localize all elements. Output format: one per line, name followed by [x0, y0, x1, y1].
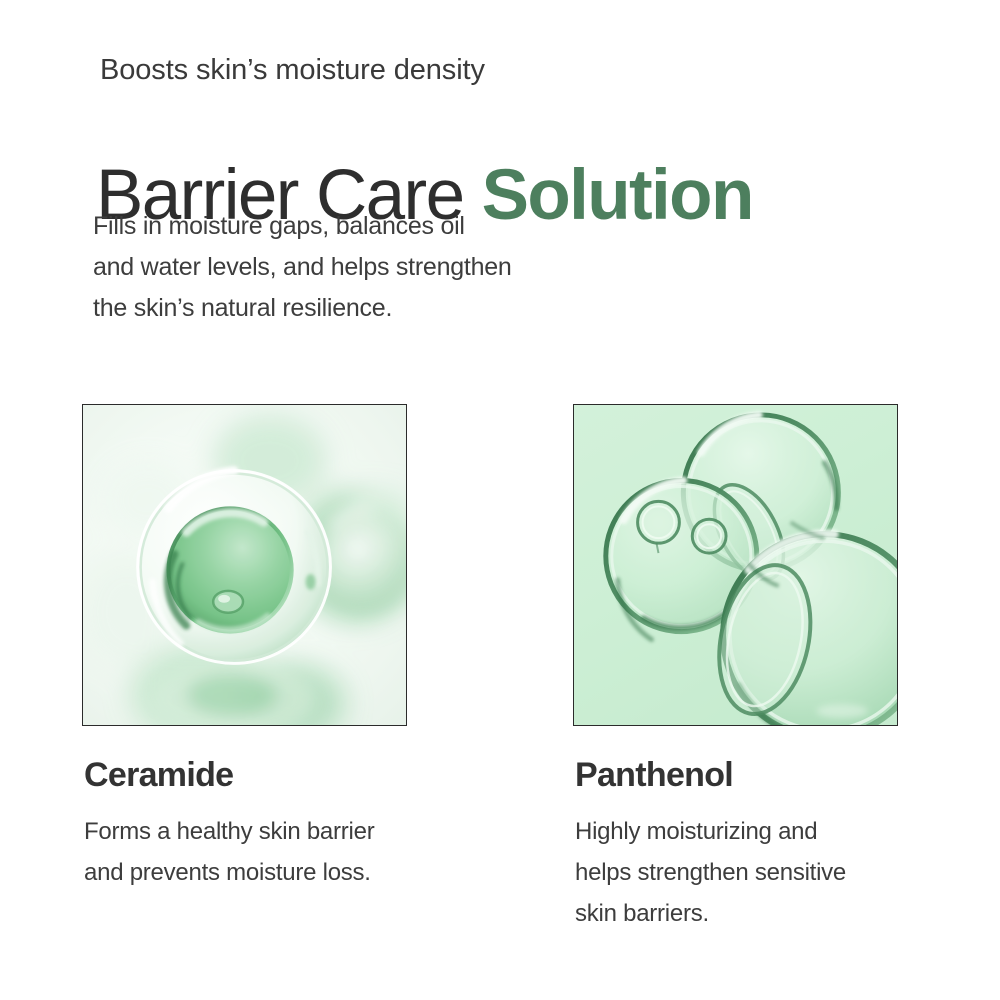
ingredient-description-line: Highly moisturizing and: [575, 811, 846, 852]
ingredient-description-line: and prevents moisture loss.: [84, 852, 374, 893]
ingredient-description-line: skin barriers.: [575, 893, 846, 934]
ingredient-description-line: helps strengthen sensitive: [575, 852, 846, 893]
ingredient-title: Panthenol: [575, 754, 733, 796]
intro-paragraph: Fills in moisture gaps, balances oil and…: [93, 206, 512, 329]
ingredient-card-panthenol: Panthenol Highly moisturizing and helps …: [573, 404, 898, 726]
product-benefit-page: Boosts skin’s moisture density Barrier C…: [0, 0, 1000, 1000]
intro-line: the skin’s natural resilience.: [93, 288, 512, 329]
ingredient-card-ceramide: Ceramide Forms a healthy skin barrier an…: [82, 404, 407, 726]
ingredient-title: Ceramide: [84, 754, 233, 796]
ingredient-description-line: Forms a healthy skin barrier: [84, 811, 374, 852]
ingredient-description: Highly moisturizing and helps strengthen…: [575, 811, 846, 934]
eyebrow-text: Boosts skin’s moisture density: [100, 51, 485, 89]
ceramide-bubble-macro-image: [82, 404, 407, 726]
panthenol-bubble-cluster-image: [573, 404, 898, 726]
intro-line: and water levels, and helps strengthen: [93, 247, 512, 288]
headline-accent-text: Solution: [482, 156, 753, 235]
intro-line: Fills in moisture gaps, balances oil: [93, 206, 512, 247]
ingredient-description: Forms a healthy skin barrier and prevent…: [84, 811, 374, 893]
